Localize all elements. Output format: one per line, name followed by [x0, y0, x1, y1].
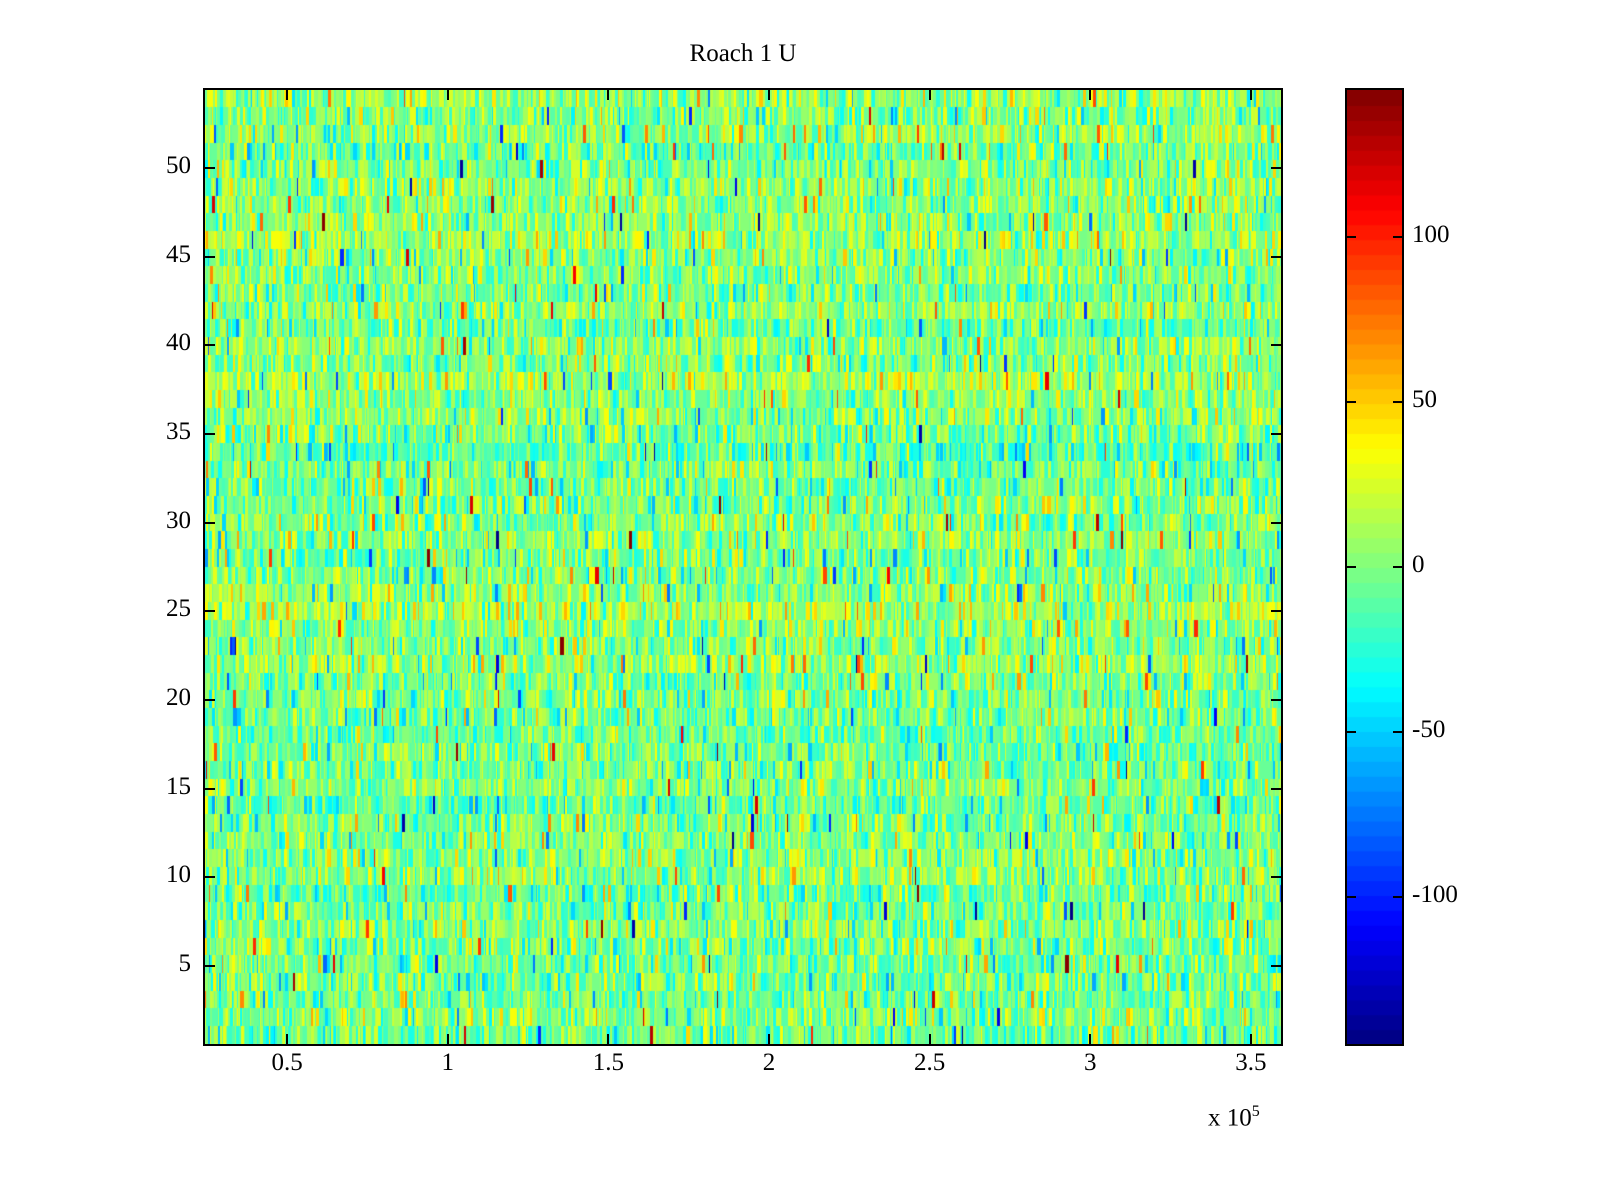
colorbar-tick-mark: [1345, 401, 1356, 403]
x-axis-tick-mark: [447, 1034, 449, 1046]
y-axis-tick-label: 25: [133, 595, 191, 623]
y-axis-tick-label: 10: [133, 861, 191, 889]
colorbar-tick-mark-right: [1393, 566, 1404, 568]
colorbar-tick-label: 0: [1412, 551, 1425, 579]
colorbar-tick-mark-right: [1393, 896, 1404, 898]
colorbar-tick-label: -100: [1412, 881, 1458, 909]
heatmap-axes[interactable]: [203, 88, 1283, 1046]
colorbar-tick-label: 50: [1412, 386, 1437, 414]
x-axis-tick-mark-top: [607, 88, 609, 100]
colorbar-tick-mark-right: [1393, 731, 1404, 733]
y-axis-tick-mark-right: [1271, 522, 1283, 524]
y-axis-tick-mark-right: [1271, 344, 1283, 346]
colorbar-tick-mark: [1345, 566, 1356, 568]
x-axis-tick-mark: [1089, 1034, 1091, 1046]
y-axis-tick-mark: [203, 699, 215, 701]
y-axis-tick-mark-right: [1271, 256, 1283, 258]
colorbar-tick-mark: [1345, 896, 1356, 898]
colorbar-tick-mark: [1345, 731, 1356, 733]
y-axis-tick-mark-right: [1271, 788, 1283, 790]
page-title: Roach 1 U: [203, 40, 1283, 68]
y-axis-tick-label: 20: [133, 684, 191, 712]
x-axis-tick-mark-top: [447, 88, 449, 100]
x-axis-tick-label: 2: [719, 1049, 819, 1077]
y-axis-tick-mark: [203, 256, 215, 258]
y-axis-tick-label: 30: [133, 507, 191, 535]
y-axis-tick-label: 45: [133, 241, 191, 269]
y-axis-tick-mark-right: [1271, 876, 1283, 878]
x-axis-tick-mark: [286, 1034, 288, 1046]
y-axis-tick-mark: [203, 522, 215, 524]
colorbar-tick-mark-right: [1393, 236, 1404, 238]
y-axis-tick-mark: [203, 876, 215, 878]
x-axis-tick-mark: [929, 1034, 931, 1046]
y-axis-tick-mark: [203, 167, 215, 169]
y-axis-tick-label: 50: [133, 152, 191, 180]
x-axis-tick-mark-top: [768, 88, 770, 100]
colorbar-tick-label: -50: [1412, 716, 1445, 744]
y-axis-tick-mark-right: [1271, 433, 1283, 435]
x-axis-tick-label: 0.5: [237, 1049, 337, 1077]
y-axis-tick-label: 35: [133, 418, 191, 446]
y-axis-tick-mark: [203, 433, 215, 435]
y-axis-tick-mark: [203, 788, 215, 790]
y-axis-tick-mark-right: [1271, 965, 1283, 967]
y-axis-tick-mark: [203, 344, 215, 346]
x-axis-tick-label: 2.5: [880, 1049, 980, 1077]
y-axis-tick-mark-right: [1271, 167, 1283, 169]
y-axis-tick-label: 5: [133, 950, 191, 978]
x-axis-tick-label: 3: [1040, 1049, 1140, 1077]
x-axis-exponent-power: 5: [1252, 1103, 1260, 1120]
colorbar-tick-mark: [1345, 236, 1356, 238]
matlab-figure-window: Roach 1 U 51015202530354045500.511.522.5…: [0, 0, 1600, 1200]
y-axis-tick-mark-right: [1271, 610, 1283, 612]
x-axis-tick-mark: [607, 1034, 609, 1046]
y-axis-tick-mark-right: [1271, 699, 1283, 701]
y-axis-tick-mark: [203, 965, 215, 967]
x-axis-tick-mark-top: [929, 88, 931, 100]
colorbar-tick-mark-right: [1393, 401, 1404, 403]
x-axis-tick-mark: [768, 1034, 770, 1046]
heatmap-image: [205, 90, 1281, 1044]
x-axis-exponent-mantissa: x 10: [1208, 1104, 1252, 1131]
x-axis-tick-label: 3.5: [1201, 1049, 1301, 1077]
x-axis-tick-mark-top: [1250, 88, 1252, 100]
colorbar-tick-label: 100: [1412, 221, 1450, 249]
x-axis-tick-mark: [1250, 1034, 1252, 1046]
y-axis-tick-label: 40: [133, 329, 191, 357]
x-axis-tick-label: 1: [398, 1049, 498, 1077]
x-axis-tick-label: 1.5: [558, 1049, 658, 1077]
x-axis-tick-mark-top: [1089, 88, 1091, 100]
y-axis-tick-mark: [203, 610, 215, 612]
y-axis-tick-label: 15: [133, 773, 191, 801]
x-axis-exponent-label: x 105: [1208, 1103, 1260, 1132]
x-axis-tick-mark-top: [286, 88, 288, 100]
